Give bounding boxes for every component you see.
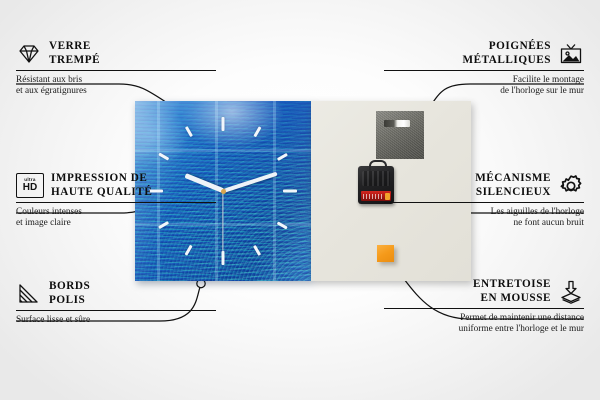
callout-head: POIGNÉESMÉTALLIQUES <box>384 40 584 67</box>
callout-foam-spacer: ENTRETOISEEN MOUSSE Permet de maintenir … <box>384 278 584 336</box>
callout-tempered-glass: VERRETREMPÉ Résistant aux bris et aux ég… <box>16 40 216 98</box>
callout-title: IMPRESSION DEHAUTE QUALITÉ <box>51 172 152 199</box>
hanger-slot <box>384 120 410 127</box>
arrow-into-layers-icon <box>558 279 584 305</box>
clock-tick <box>283 190 297 193</box>
title-line-1: IMPRESSION DE <box>51 172 147 184</box>
callout-polished-edges: BORDSPOLIS Surface lisse et sûre <box>16 280 216 326</box>
callout-head: ultra HD IMPRESSION DEHAUTE QUALITÉ <box>16 172 216 199</box>
badge-large-text: HD <box>23 183 37 193</box>
callout-rule <box>384 308 584 309</box>
callout-title: BORDSPOLIS <box>49 280 90 307</box>
callout-description: Permet de maintenir une distance uniform… <box>384 313 584 336</box>
callout-rule <box>16 202 216 203</box>
callout-description: Résistant aux bris et aux égratignures <box>16 75 216 98</box>
title-line-2: POLIS <box>49 294 85 306</box>
clock-tick <box>253 126 261 137</box>
callout-title: MÉCANISMESILENCIEUX <box>475 172 551 199</box>
clock-tick <box>222 251 225 265</box>
callout-head: ENTRETOISEEN MOUSSE <box>384 278 584 305</box>
title-line-1: MÉCANISME <box>475 172 551 184</box>
clock-tick <box>277 153 288 161</box>
callout-rule <box>16 310 216 311</box>
callout-rule <box>384 70 584 71</box>
title-line-1: BORDS <box>49 280 90 292</box>
clock-tick <box>277 221 288 229</box>
callout-silent-mechanism: MÉCANISMESILENCIEUX Les aiguilles de l'h… <box>384 172 584 230</box>
ultra-hd-badge-icon: ultra HD <box>16 173 44 198</box>
callout-description: Surface lisse et sûre <box>16 315 216 326</box>
callout-metal-handles: POIGNÉESMÉTALLIQUES Facilite le montage … <box>384 40 584 98</box>
clock-tick <box>185 126 193 137</box>
callout-rule <box>384 202 584 203</box>
gear-icon <box>558 173 584 199</box>
diamond-icon <box>16 41 42 67</box>
callout-title: POIGNÉESMÉTALLIQUES <box>462 40 551 67</box>
title-line-2: HAUTE QUALITÉ <box>51 186 152 198</box>
callout-head: MÉCANISMESILENCIEUX <box>384 172 584 199</box>
clock-tick <box>253 245 261 256</box>
picture-hanger-icon <box>558 41 584 67</box>
orange-foam-spacer <box>377 245 394 262</box>
title-line-1: VERRE <box>49 40 91 52</box>
metal-hanger-plate <box>376 111 424 159</box>
title-line-2: TREMPÉ <box>49 54 100 66</box>
title-line-2: MÉTALLIQUES <box>462 54 551 66</box>
title-line-1: POIGNÉES <box>489 40 551 52</box>
infographic-canvas: VERRETREMPÉ Résistant aux bris et aux ég… <box>0 0 600 400</box>
callout-head: VERRETREMPÉ <box>16 40 216 67</box>
title-line-2: EN MOUSSE <box>480 292 551 304</box>
callout-rule <box>16 70 216 71</box>
title-line-1: ENTRETOISE <box>473 278 551 290</box>
polished-edges-icon <box>16 281 42 307</box>
callout-head: BORDSPOLIS <box>16 280 216 307</box>
clock-tick <box>158 153 169 161</box>
mechanism-hanging-loop <box>369 160 387 171</box>
callout-description: Facilite le montage de l'horloge sur le … <box>384 75 584 98</box>
callout-title: ENTRETOISEEN MOUSSE <box>473 278 551 305</box>
callout-title: VERRETREMPÉ <box>49 40 100 67</box>
clock-tick <box>222 117 225 131</box>
clock-center-pin <box>221 189 226 194</box>
callout-description: Couleurs intenses et image claire <box>16 207 216 230</box>
clock-tick <box>185 245 193 256</box>
callout-description: Les aiguilles de l'horloge ne font aucun… <box>384 207 584 230</box>
battery-label <box>363 194 383 199</box>
callout-high-quality-print: ultra HD IMPRESSION DEHAUTE QUALITÉ Coul… <box>16 172 216 230</box>
title-line-2: SILENCIEUX <box>476 186 551 198</box>
